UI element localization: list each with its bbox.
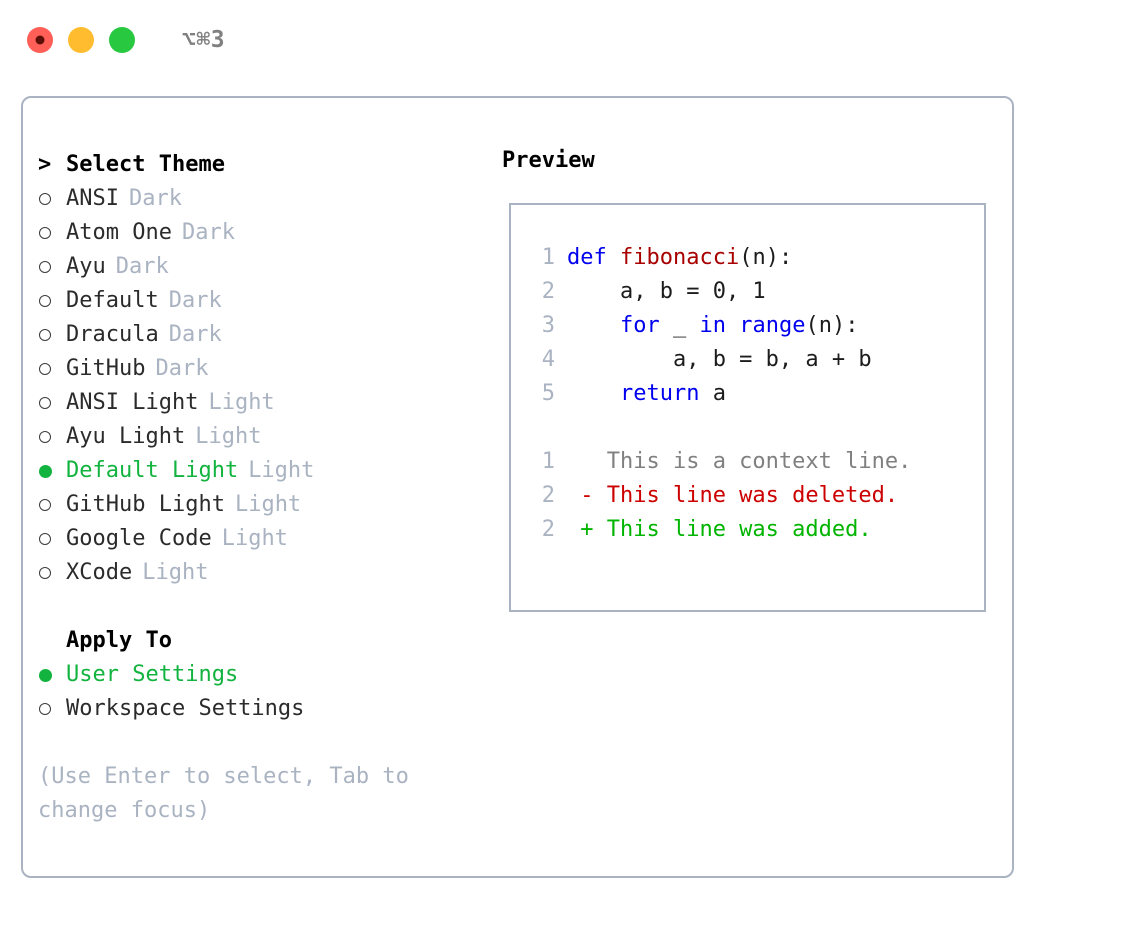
theme-name-label: Ayu [66, 250, 106, 284]
radio-bullet [39, 295, 51, 307]
theme-variant-label: Dark [182, 216, 235, 250]
theme-variant-label: Dark [129, 182, 182, 216]
theme-list-item[interactable]: Atom OneDark [38, 216, 478, 250]
theme-variant-label: Dark [116, 250, 169, 284]
token-kw: in [699, 313, 739, 338]
code-diff-gap [529, 411, 978, 445]
line-content: a, b = 0, 1 [567, 275, 766, 309]
window-title: ⌥⌘3 [182, 27, 225, 53]
theme-variant-label: Dark [169, 284, 222, 318]
theme-variant-label: Dark [169, 318, 222, 352]
diff-line: 2 - This line was deleted. [529, 479, 978, 513]
token-plain [567, 313, 620, 338]
line-number: 1 [529, 241, 555, 275]
line-number: 2 [529, 513, 555, 547]
minimize-button[interactable] [68, 27, 94, 53]
apply-to-label: User Settings [66, 658, 238, 692]
line-content: for _ in range(n): [567, 309, 858, 343]
token-fn: fibonacci [620, 245, 739, 270]
radio-bullet [39, 363, 51, 375]
code-line: 3 for _ in range(n): [529, 309, 978, 343]
section-spacer [38, 590, 478, 624]
theme-name-label: ANSI [66, 182, 119, 216]
radio-bullet [39, 499, 51, 511]
radio-unselected-icon [38, 397, 66, 409]
line-content: return a [567, 377, 726, 411]
theme-list-item[interactable]: DraculaDark [38, 318, 478, 352]
apply-to-heading: Apply To [38, 624, 478, 658]
window-titlebar: ⌥⌘3 [0, 0, 1140, 80]
token-kw: for [620, 313, 660, 338]
theme-name-label: Ayu Light [66, 420, 185, 454]
line-number: 2 [529, 275, 555, 309]
radio-unselected-icon [38, 363, 66, 375]
radio-selected-icon [38, 465, 66, 478]
theme-name-label: Google Code [66, 522, 212, 556]
preview-title: Preview [502, 148, 595, 173]
prompt-caret-icon: > [38, 148, 66, 182]
theme-name-label: Dracula [66, 318, 159, 352]
line-content: def fibonacci(n): [567, 241, 792, 275]
theme-name-label: ANSI Light [66, 386, 198, 420]
radio-unselected-icon [38, 261, 66, 273]
line-number: 1 [529, 445, 555, 479]
radio-unselected-icon [38, 703, 66, 715]
radio-unselected-icon [38, 431, 66, 443]
token-kw: range [739, 313, 805, 338]
apply-to-item[interactable]: User Settings [38, 658, 478, 692]
theme-name-label: Atom One [66, 216, 172, 250]
radio-unselected-icon [38, 227, 66, 239]
theme-list-item[interactable]: ANSIDark [38, 182, 478, 216]
theme-variant-label: Light [208, 386, 274, 420]
radio-bullet [39, 465, 52, 478]
radio-unselected-icon [38, 193, 66, 205]
token-plain: a, b = 0, 1 [567, 279, 766, 304]
maximize-button[interactable] [109, 27, 135, 53]
app-window: > Select Theme ANSIDarkAtom OneDarkAyuDa… [21, 96, 1014, 878]
radio-unselected-icon [38, 567, 66, 579]
token-plain: (n): [805, 313, 858, 338]
radio-unselected-icon [38, 329, 66, 341]
line-number: 4 [529, 343, 555, 377]
preview-code-area: 1def fibonacci(n):2 a, b = 0, 13 for _ i… [529, 241, 978, 547]
theme-list-item[interactable]: DefaultDark [38, 284, 478, 318]
theme-list-item[interactable]: Ayu LightLight [38, 420, 478, 454]
line-number: 2 [529, 479, 555, 513]
code-line: 2 a, b = 0, 1 [529, 275, 978, 309]
close-button[interactable] [27, 27, 53, 53]
radio-bullet [39, 703, 51, 715]
apply-to-label: Workspace Settings [66, 692, 304, 726]
line-content: a, b = b, a + b [567, 343, 872, 377]
token-del: - This line was deleted. [567, 483, 898, 508]
radio-unselected-icon [38, 295, 66, 307]
line-content: + This line was added. [567, 513, 872, 547]
token-ctx: This is a context line. [567, 449, 911, 474]
apply-to-heading-label: Apply To [66, 624, 172, 658]
token-plain: a, b = b, a + b [567, 347, 872, 372]
line-number: 5 [529, 377, 555, 411]
theme-list-item[interactable]: GitHub LightLight [38, 488, 478, 522]
theme-variant-label: Dark [155, 352, 208, 386]
line-content: This is a context line. [567, 445, 911, 479]
radio-selected-icon [38, 669, 66, 682]
code-sample: 1def fibonacci(n):2 a, b = 0, 13 for _ i… [529, 241, 978, 411]
code-line: 5 return a [529, 377, 978, 411]
theme-variant-label: Light [222, 522, 288, 556]
radio-bullet [39, 397, 51, 409]
radio-bullet [39, 227, 51, 239]
line-number: 3 [529, 309, 555, 343]
token-plain: a [699, 381, 726, 406]
radio-bullet [39, 431, 51, 443]
radio-unselected-icon [38, 533, 66, 545]
theme-name-label: GitHub Light [66, 488, 225, 522]
theme-name-label: GitHub [66, 352, 145, 386]
theme-name-label: XCode [66, 556, 132, 590]
screenshot-root: ⌥⌘3 > Select Theme ANSIDarkAtom OneDarkA… [0, 0, 1140, 934]
theme-list: ANSIDarkAtom OneDarkAyuDarkDefaultDarkDr… [38, 182, 478, 590]
radio-unselected-icon [38, 499, 66, 511]
token-add: + This line was added. [567, 517, 872, 542]
theme-list-item[interactable]: ANSI LightLight [38, 386, 478, 420]
radio-bullet [39, 329, 51, 341]
diff-sample: 1 This is a context line.2 - This line w… [529, 445, 978, 547]
code-line: 1def fibonacci(n): [529, 241, 978, 275]
preview-box: 1def fibonacci(n):2 a, b = 0, 13 for _ i… [509, 203, 986, 612]
theme-variant-label: Light [248, 454, 314, 488]
code-line: 4 a, b = b, a + b [529, 343, 978, 377]
theme-picker-heading-label: Select Theme [66, 148, 225, 182]
theme-list-item[interactable]: Default LightLight [38, 454, 478, 488]
radio-bullet [39, 261, 51, 273]
theme-picker-panel: > Select Theme ANSIDarkAtom OneDarkAyuDa… [38, 148, 478, 726]
theme-variant-label: Light [195, 420, 261, 454]
theme-variant-label: Light [142, 556, 208, 590]
theme-variant-label: Light [235, 488, 301, 522]
diff-line: 1 This is a context line. [529, 445, 978, 479]
token-kw: return [620, 381, 699, 406]
token-plain: _ [660, 313, 700, 338]
apply-to-list: User SettingsWorkspace Settings [38, 658, 478, 726]
theme-list-item[interactable]: XCodeLight [38, 556, 478, 590]
theme-name-label: Default [66, 284, 159, 318]
radio-bullet [39, 193, 51, 205]
radio-bullet [39, 567, 51, 579]
diff-line: 2 + This line was added. [529, 513, 978, 547]
theme-name-label: Default Light [66, 454, 238, 488]
radio-bullet [39, 533, 51, 545]
theme-picker-heading: > Select Theme [38, 148, 478, 182]
theme-list-item[interactable]: AyuDark [38, 250, 478, 284]
token-plain [567, 381, 620, 406]
line-content: - This line was deleted. [567, 479, 898, 513]
token-plain: (n): [739, 245, 792, 270]
theme-list-item[interactable]: GitHubDark [38, 352, 478, 386]
apply-to-item[interactable]: Workspace Settings [38, 692, 478, 726]
token-kw: def [567, 245, 620, 270]
help-hint-text: (Use Enter to select, Tab to change focu… [38, 760, 458, 828]
theme-list-item[interactable]: Google CodeLight [38, 522, 478, 556]
radio-bullet [39, 669, 52, 682]
